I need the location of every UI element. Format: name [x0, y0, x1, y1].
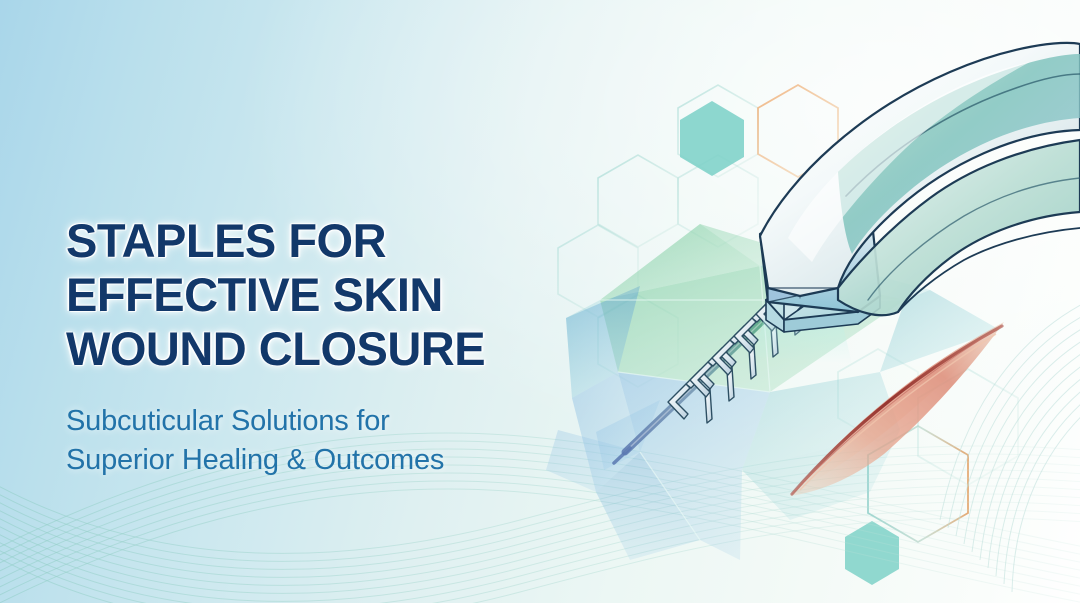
copy-block: STAPLES FOR EFFECTIVE SKIN WOUND CLOSURE… [66, 214, 576, 480]
subheadline: Subcuticular Solutions for Superior Heal… [66, 402, 576, 480]
hero-banner: STAPLES FOR EFFECTIVE SKIN WOUND CLOSURE… [0, 0, 1080, 603]
headline: STAPLES FOR EFFECTIVE SKIN WOUND CLOSURE [66, 214, 576, 376]
